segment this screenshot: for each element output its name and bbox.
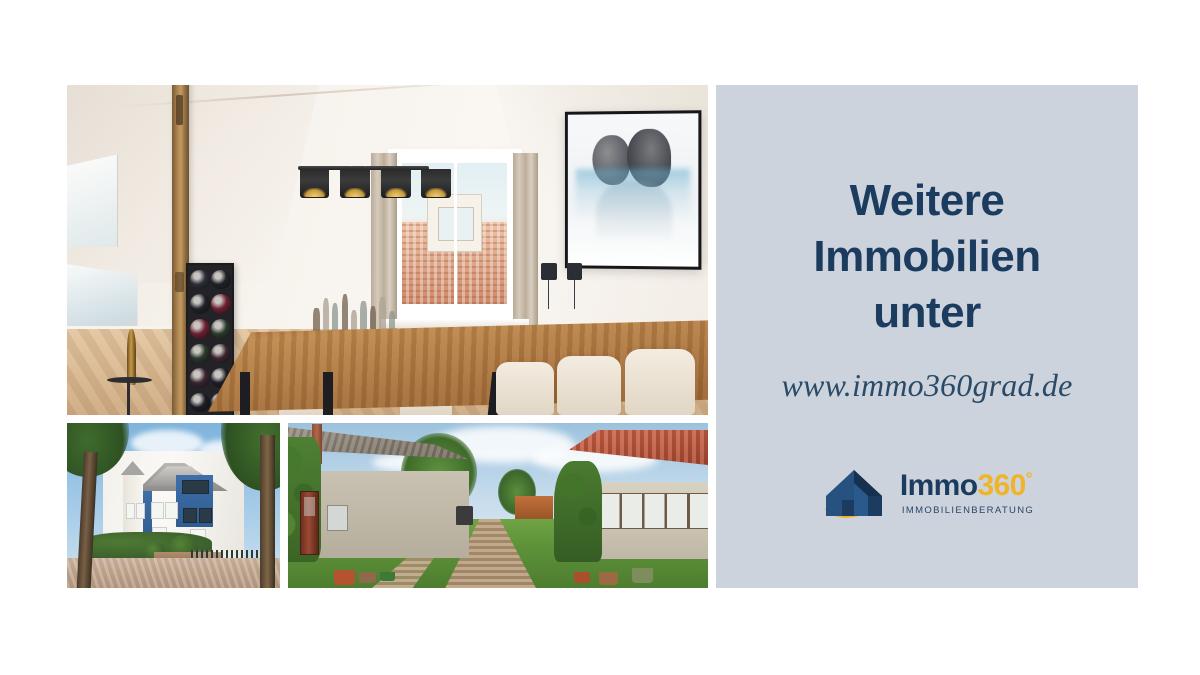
info-panel: Weitere Immobilien unter www.immo360grad… xyxy=(716,85,1138,588)
wine-bottle-end xyxy=(211,270,231,290)
lamp-shade xyxy=(300,169,329,197)
photo-interior-dining-room xyxy=(67,85,708,415)
house-left xyxy=(288,426,469,561)
bottle xyxy=(379,297,385,333)
dining-chair xyxy=(557,356,621,415)
wine-bottle-end xyxy=(211,344,231,364)
lamp-shade xyxy=(421,169,450,197)
wine-bottle-end xyxy=(211,319,231,339)
wall-speaker-icon xyxy=(541,263,556,280)
flower-pot xyxy=(334,570,355,585)
villa-window xyxy=(183,508,196,523)
logo-tagline: IMMOBILIENBERATUNG xyxy=(900,506,1034,516)
side-table xyxy=(107,377,152,415)
bottle xyxy=(313,308,319,333)
lamp-shade xyxy=(340,169,369,197)
flower-pot xyxy=(632,568,653,583)
wine-bottle-end xyxy=(190,270,210,290)
house-logo-icon xyxy=(820,466,890,522)
logo-wordmark: Immo360° IMMOBILIENBERATUNG xyxy=(900,471,1034,516)
waste-bin xyxy=(456,506,473,526)
flower-pot xyxy=(574,572,591,584)
lamp-rod xyxy=(350,166,351,167)
villa-window xyxy=(126,503,135,519)
villa-window xyxy=(199,508,212,523)
villa-window xyxy=(136,503,145,519)
headline-line-2: Immobilien xyxy=(813,229,1040,285)
window-mullion xyxy=(454,163,457,304)
flower-pot xyxy=(359,572,376,584)
tree-right xyxy=(242,423,280,588)
table-leg xyxy=(323,372,333,415)
curtain-right xyxy=(513,153,539,331)
bottle xyxy=(323,298,329,333)
villa-window xyxy=(165,502,178,519)
photo-villa-exterior xyxy=(67,423,280,588)
page-title: Weitere Immobilien unter xyxy=(813,85,1040,341)
wine-bottle-end xyxy=(190,319,210,339)
house-right xyxy=(536,430,708,562)
wooden-door xyxy=(300,491,319,555)
photo-country-garden xyxy=(288,423,708,588)
villa-window xyxy=(151,502,164,519)
table-leg xyxy=(240,372,250,415)
wine-bottle-end xyxy=(190,368,210,388)
tree-left xyxy=(67,423,118,588)
wine-bottle-end xyxy=(211,294,231,314)
bottle xyxy=(351,310,357,333)
bottle xyxy=(342,294,348,332)
villa-window xyxy=(182,480,209,494)
headline-line-3: unter xyxy=(813,285,1040,341)
dining-chair xyxy=(496,362,554,415)
wall-speaker-icon xyxy=(567,263,582,280)
logo-degree-symbol: ° xyxy=(1026,470,1032,487)
bottle xyxy=(332,303,338,332)
wine-bottle-end xyxy=(190,344,210,364)
ivy-right xyxy=(554,461,602,561)
lamp-rod xyxy=(365,166,366,167)
headline-line-1: Weitere xyxy=(813,173,1040,229)
dormer-window-upper xyxy=(67,154,118,246)
framed-artwork xyxy=(565,111,702,270)
lamp-shade xyxy=(381,169,410,197)
flower-pot xyxy=(380,572,395,582)
logo-brand-primary: Immo xyxy=(900,471,978,501)
tree-trunk xyxy=(260,435,275,588)
slide-canvas: Weitere Immobilien unter www.immo360grad… xyxy=(0,0,1200,675)
logo-brand-accent: 360 xyxy=(977,471,1025,501)
dining-chair xyxy=(625,349,696,415)
wine-bottle-end xyxy=(190,294,210,314)
bottle xyxy=(360,301,366,333)
logo-brand-row: Immo360° xyxy=(900,471,1034,501)
brand-logo[interactable]: Immo360° IMMOBILIENBERATUNG xyxy=(820,466,1034,522)
wine-bottle-end xyxy=(190,393,210,413)
website-url[interactable]: www.immo360grad.de xyxy=(781,341,1072,404)
photo-collage xyxy=(67,85,708,588)
artwork-blue-mist xyxy=(575,169,690,221)
flower-pot xyxy=(599,572,618,585)
bottle xyxy=(370,306,376,333)
sideboard-bottles xyxy=(311,293,401,333)
house-left-window xyxy=(327,505,348,531)
